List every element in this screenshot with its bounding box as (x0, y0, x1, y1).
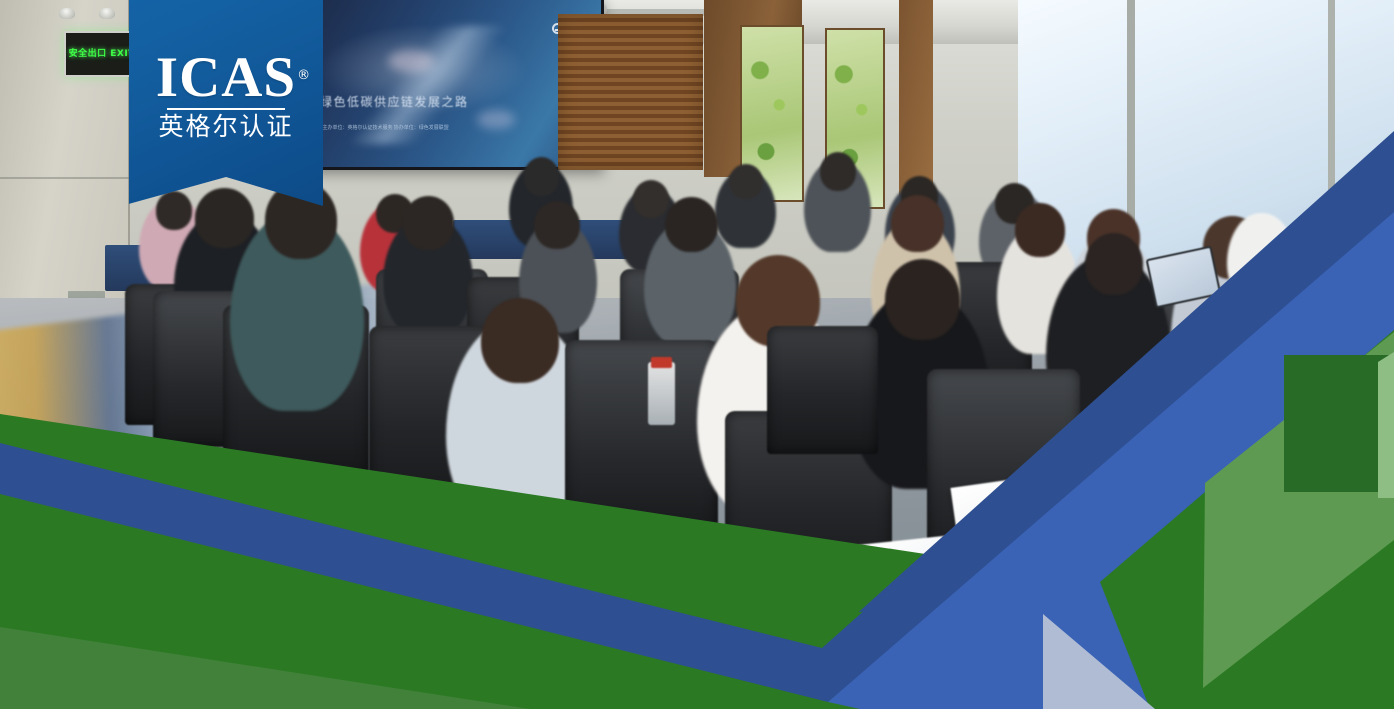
screen-highlight (477, 110, 514, 128)
person-head (891, 195, 944, 252)
water-bottle-cap (651, 357, 672, 368)
person-head (885, 259, 960, 341)
icas-logo-block: ICAS® 英格尔认证 (129, 0, 323, 206)
chair (767, 326, 879, 454)
person-head (524, 157, 559, 195)
person-head (665, 197, 718, 252)
person-head (729, 164, 762, 199)
audience-person (1227, 213, 1297, 305)
screen-highlight (388, 50, 434, 72)
person-head (820, 152, 856, 191)
person-head (481, 298, 559, 383)
exit-sign-label: 安全出口 EXIT (69, 50, 135, 58)
window-blinds (558, 14, 703, 170)
person-head (403, 196, 455, 250)
spot-light-icon (99, 8, 115, 19)
slide-fine-print: 主办单位：英格尔认证技术服务 协办单位：绿色发展联盟 (322, 125, 448, 133)
person-head (1324, 211, 1380, 271)
icas-wordmark-text: ICAS (156, 46, 296, 109)
icas-wordmark: ICAS® (156, 49, 296, 106)
person-head (1015, 203, 1065, 257)
banner-image: 安全出口 EXIT ICAS 来 核算与绿色低碳供应链发展之路 主办单位：英格尔… (0, 0, 1394, 709)
chair (565, 340, 718, 539)
spot-light-icon (59, 8, 75, 19)
person-head (633, 180, 669, 218)
registered-trademark-icon: ® (297, 47, 311, 104)
person-head (195, 188, 254, 248)
wall-trim-line (0, 177, 135, 179)
person-head (156, 191, 192, 229)
water-bottle (648, 362, 674, 426)
icas-chinese-name: 英格尔认证 (129, 113, 323, 141)
icas-logo-lockup: ICAS® 英格尔认证 (129, 49, 323, 142)
person-head (1085, 233, 1144, 295)
exit-sign: 安全出口 EXIT (64, 31, 139, 77)
person-head (534, 201, 580, 249)
